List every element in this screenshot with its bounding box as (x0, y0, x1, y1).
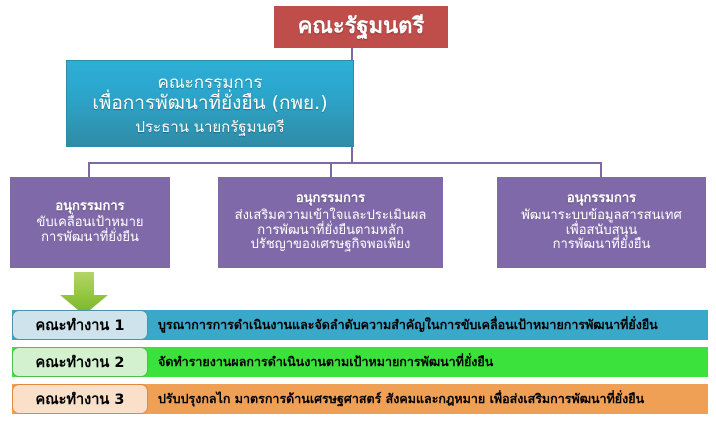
subcommittee-1-heading: อนุกรรมการ (55, 200, 124, 215)
subcommittee-node-2: อนุกรรมการ ส่งเสริมความเข้าใจและประเมินผ… (218, 177, 443, 268)
subcommittee-3-line-1: พัฒนาระบบข้อมูลสารสนเทศ (521, 209, 682, 224)
subcommittee-3-heading: อนุกรรมการ (567, 192, 636, 207)
working-group-row-1: บูรณาการการดำเนินงานและจัดลำดับความสำคัญ… (12, 310, 708, 340)
subcommittee-2-line-3: ปรัชญาของเศรษฐกิจพอเพียง (251, 238, 411, 253)
connector-bus-to-sub-3 (600, 162, 602, 178)
connector-bus-to-sub-1 (88, 162, 90, 178)
cabinet-node: คณะรัฐมนตรี (274, 6, 448, 48)
committee-line-1: คณะกรรมการ (157, 74, 262, 93)
subcommittee-2-line-1: ส่งเสริมความเข้าใจและประเมินผล (235, 209, 427, 224)
working-group-3-tag[interactable]: คณะทำงาน 3 (12, 384, 148, 414)
working-group-row-3: ปรับปรุงกลไก มาตรการด้านเศรษฐศาสตร์ สังค… (12, 384, 708, 414)
committee-line-2: เพื่อการพัฒนาที่ยั่งยืน (กพย.) (92, 93, 327, 114)
subcommittee-2-heading: อนุกรรมการ (296, 192, 365, 207)
working-group-1-tag[interactable]: คณะทำงาน 1 (12, 310, 148, 340)
working-group-2-tag[interactable]: คณะทำงาน 2 (12, 347, 148, 377)
subcommittee-node-3: อนุกรรมการ พัฒนาระบบข้อมูลสารสนเทศ เพื่อ… (497, 177, 706, 268)
connector-horizontal-bus (88, 162, 602, 164)
cabinet-label: คณะรัฐมนตรี (298, 15, 425, 40)
connector-bus-to-sub-2 (330, 162, 332, 178)
working-group-row-2: จัดทำรายงานผลการดำเนินงานตามเป้าหมายการพ… (12, 347, 708, 377)
subcommittee-1-line-1: ขับเคลื่อนเป้าหมาย (37, 216, 144, 231)
subcommittee-node-1: อนุกรรมการ ขับเคลื่อนเป้าหมาย การพัฒนาที… (10, 177, 170, 268)
committee-chairperson: ประธาน นายกรัฐมนตรี (135, 119, 284, 136)
subcommittee-1-line-2: การพัฒนาที่ยั่งยืน (41, 231, 139, 246)
committee-node: คณะกรรมการ เพื่อการพัฒนาที่ยั่งยืน (กพย.… (66, 60, 354, 147)
subcommittee-3-line-2: เพื่อสนับสนุน (566, 224, 638, 239)
subcommittee-3-line-3: การพัฒนาที่ยั่งยืน (553, 238, 651, 253)
subcommittee-2-line-2: การพัฒนาที่ยั่งยืนตามหลัก (257, 224, 403, 239)
